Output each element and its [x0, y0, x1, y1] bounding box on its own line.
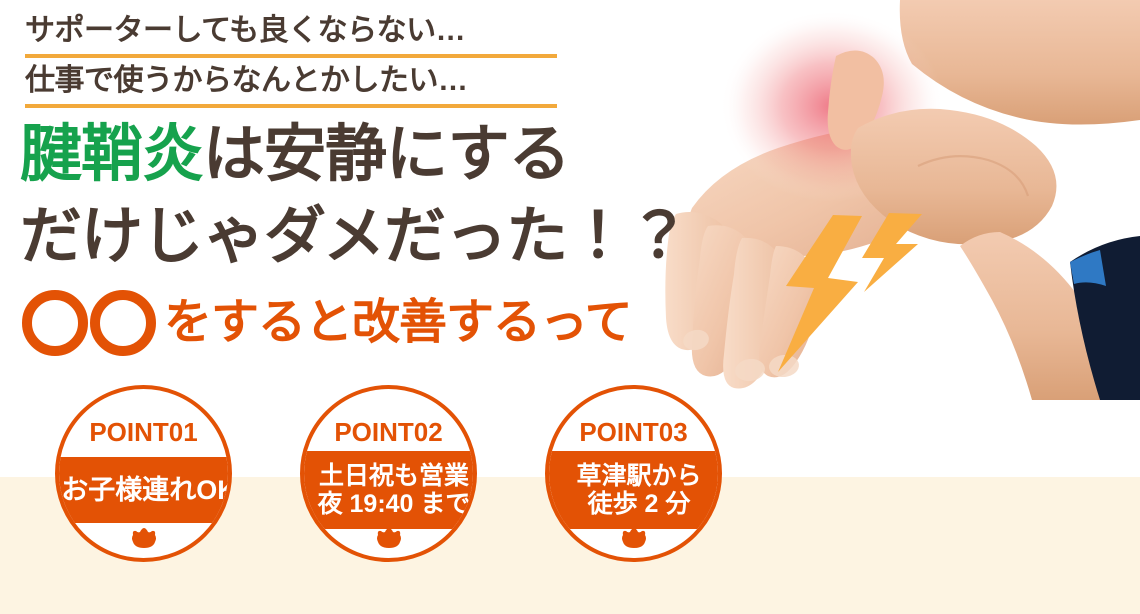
point-badge-2-strip: 土日祝も営業 夜 19:40 まで — [300, 451, 477, 529]
headline-line-1-rest: は安静にする — [203, 120, 570, 189]
headline-keyword: 腱鞘炎 — [20, 120, 203, 189]
point-badge-1-title: POINT01 — [59, 419, 228, 445]
circle-blank-icon — [90, 290, 156, 356]
point-badge-1[interactable]: POINT01 お子様連れOK — [55, 385, 232, 562]
headline-line-2: だけじゃダメだった！？ — [20, 206, 689, 268]
photo-illustration — [600, 0, 1140, 400]
point-badge-2[interactable]: POINT02 土日祝も営業 夜 19:40 まで — [300, 385, 477, 562]
point-badge-2-title: POINT02 — [304, 419, 473, 445]
circle-blank-icon — [22, 290, 88, 356]
cta-line: をすると改善するって — [22, 290, 632, 356]
point-badge-3-line-2: 徒歩 2 分 — [588, 490, 691, 518]
crown-icon — [129, 528, 159, 555]
crown-icon — [374, 528, 404, 555]
point-badge-3[interactable]: POINT03 草津駅から 徒歩 2 分 — [545, 385, 722, 562]
point-badges: POINT01 お子様連れOK POINT02 土日祝も営業 夜 19:40 ま… — [0, 385, 760, 570]
cta-text: をすると改善するって — [164, 299, 632, 347]
lead-underline-2 — [25, 104, 557, 108]
point-badge-3-title: POINT03 — [549, 419, 718, 445]
headline-line-1: 腱鞘炎は安静にする — [20, 124, 570, 186]
lead-line-2: 仕事で使うからなんとかしたい… — [25, 66, 468, 96]
point-badge-3-line-1: 草津駅から — [576, 462, 701, 490]
lead-underline-1 — [25, 54, 557, 58]
point-badge-2-line-2: 夜 19:40 まで — [318, 490, 471, 518]
crown-icon — [619, 528, 649, 555]
wrist-pain-photo — [600, 0, 1140, 400]
point-badge-3-strip: 草津駅から 徒歩 2 分 — [545, 451, 722, 529]
point-badge-1-line-1: お子様連れOK — [61, 475, 232, 505]
lead-line-1: サポーターしても良くならない… — [25, 16, 465, 46]
promo-banner: サポーターしても良くならない… 仕事で使うからなんとかしたい… 腱鞘炎は安静にす… — [0, 0, 1140, 614]
point-badge-2-line-1: 土日祝も営業 — [319, 462, 469, 490]
point-badge-1-strip: お子様連れOK — [55, 457, 232, 523]
